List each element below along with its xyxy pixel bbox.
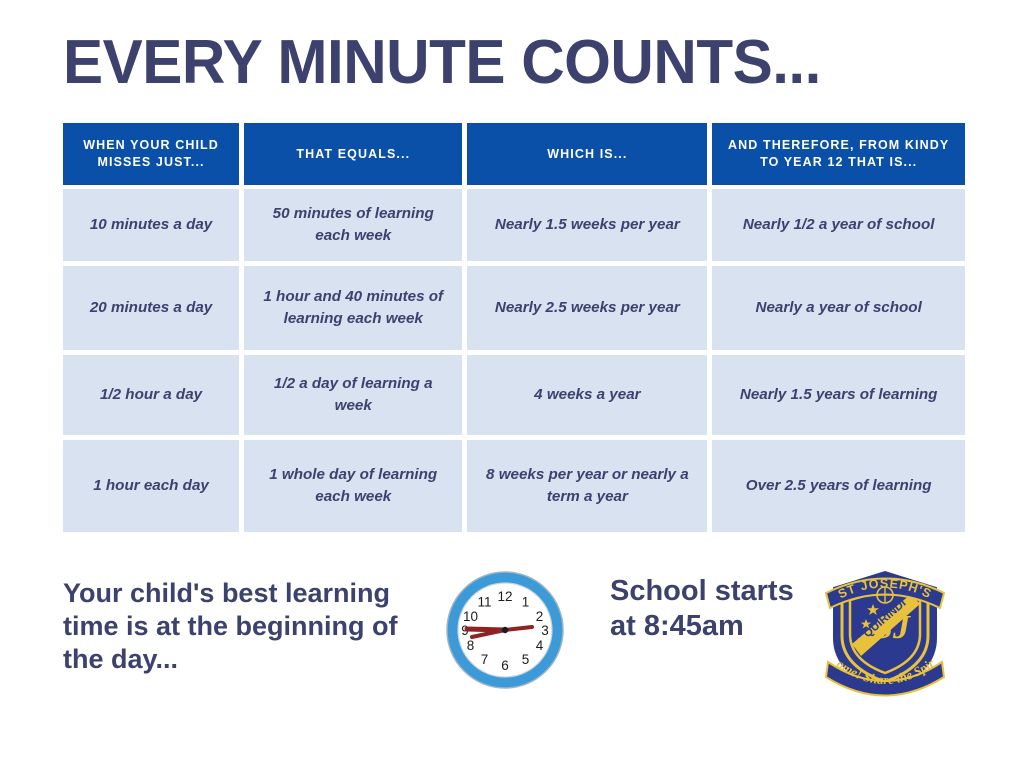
cell-therefore: Nearly 1/2 a year of school [712, 189, 965, 261]
svg-text:12: 12 [497, 589, 512, 604]
cell-which-is: 8 weeks per year or nearly a term a year [467, 440, 707, 532]
cell-equals: 1 whole day of learning each week [244, 440, 462, 532]
table-header-row: WHEN YOUR CHILD MISSES JUST... THAT EQUA… [63, 123, 965, 185]
cell-equals: 1/2 a day of learning a week [244, 355, 462, 435]
svg-text:10: 10 [463, 609, 478, 624]
school-crest-icon: SJ QUIRINDI ST JOSEPH'S Come! Share the … [812, 560, 958, 700]
svg-text:2: 2 [536, 609, 544, 624]
svg-text:8: 8 [467, 638, 475, 653]
svg-text:4: 4 [536, 638, 544, 653]
tagline-text: Your child's best learning time is at th… [63, 577, 403, 676]
cell-missed: 20 minutes a day [63, 266, 239, 350]
cell-which-is: 4 weeks a year [467, 355, 707, 435]
column-header-missed: WHEN YOUR CHILD MISSES JUST... [63, 123, 239, 185]
table-row: 10 minutes a day 50 minutes of learning … [63, 189, 965, 261]
cell-missed: 1 hour each day [63, 440, 239, 532]
cell-therefore: Over 2.5 years of learning [712, 440, 965, 532]
cell-therefore: Nearly a year of school [712, 266, 965, 350]
cell-missed: 10 minutes a day [63, 189, 239, 261]
wall-clock-icon: 12 1 2 3 4 5 6 7 8 9 10 11 [440, 565, 570, 695]
cell-equals: 50 minutes of learning each week [244, 189, 462, 261]
table-row: 1/2 hour a day 1/2 a day of learning a w… [63, 355, 965, 435]
cell-equals: 1 hour and 40 minutes of learning each w… [244, 266, 462, 350]
cell-which-is: Nearly 1.5 weeks per year [467, 189, 707, 261]
column-header-equals: THAT EQUALS... [244, 123, 462, 185]
svg-text:5: 5 [522, 652, 530, 667]
table-row: 20 minutes a day 1 hour and 40 minutes o… [63, 266, 965, 350]
svg-text:11: 11 [477, 595, 491, 610]
svg-text:3: 3 [541, 623, 549, 638]
cell-which-is: Nearly 2.5 weeks per year [467, 266, 707, 350]
svg-text:7: 7 [481, 652, 489, 667]
cell-therefore: Nearly 1.5 years of learning [712, 355, 965, 435]
footer-band: Your child's best learning time is at th… [0, 560, 1024, 710]
cell-missed: 1/2 hour a day [63, 355, 239, 435]
column-header-which-is: WHICH IS... [467, 123, 707, 185]
poster-canvas: EVERY MINUTE COUNTS... WHEN YOUR CHILD M… [0, 0, 1024, 768]
table-row: 1 hour each day 1 whole day of learning … [63, 440, 965, 532]
column-header-therefore: AND THEREFORE, FROM KINDY TO YEAR 12 THA… [712, 123, 965, 185]
svg-text:6: 6 [501, 658, 509, 673]
page-title: EVERY MINUTE COUNTS... [63, 28, 821, 98]
svg-text:1: 1 [522, 595, 530, 610]
attendance-table: WHEN YOUR CHILD MISSES JUST... THAT EQUA… [63, 123, 965, 537]
school-start-text: School starts at 8:45am [610, 574, 800, 644]
